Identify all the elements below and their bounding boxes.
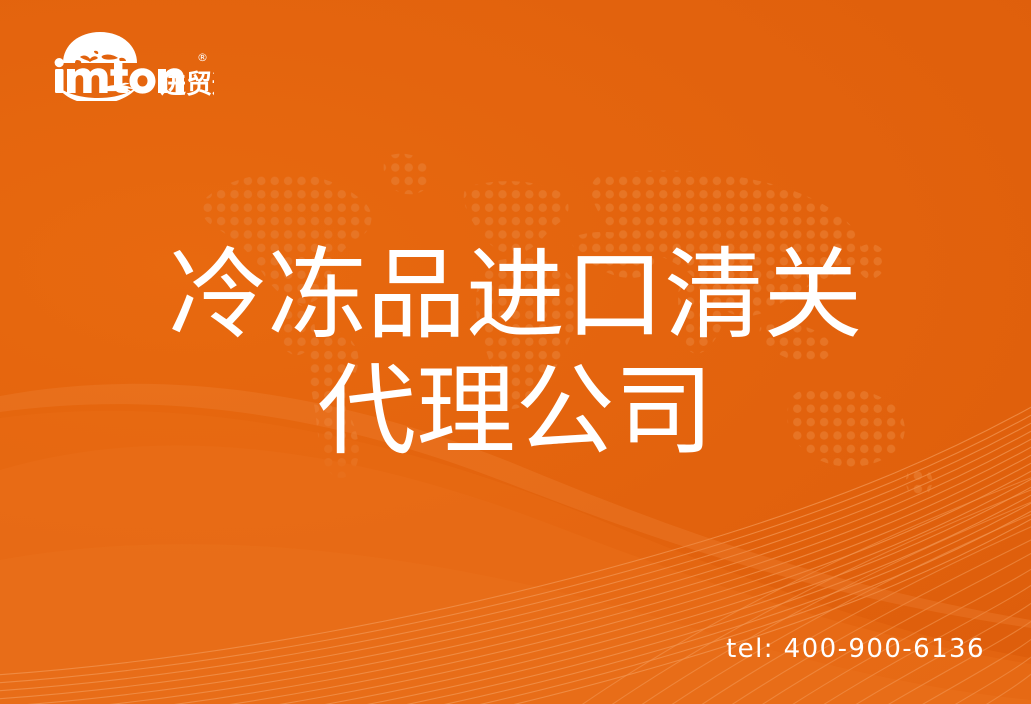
globe-arc-icon <box>62 32 138 63</box>
company-logo[interactable]: 进贸通 ® <box>34 27 214 101</box>
logo-chinese-name: 进贸通 <box>160 70 214 100</box>
background-decoration <box>0 0 1031 704</box>
contact-phone[interactable]: tel: 400-900-6136 <box>726 634 985 664</box>
promo-banner: 进贸通 ® 冷冻品进口清关 代理公司 tel: 400-900-6136 <box>0 0 1031 704</box>
logo-svg: 进贸通 ® <box>34 27 214 101</box>
logo-trademark-symbol: ® <box>197 51 208 64</box>
